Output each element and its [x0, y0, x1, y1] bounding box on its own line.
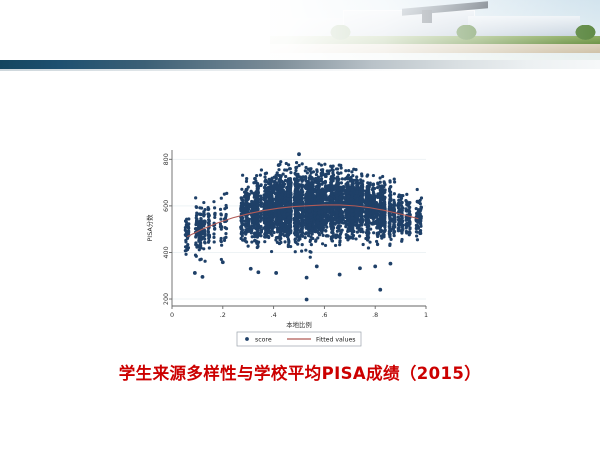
- chart-legend: scoreFitted values: [237, 332, 361, 346]
- x-tick-label: 0: [170, 311, 174, 319]
- y-tick-label: 800: [162, 153, 170, 165]
- legend-label-score: score: [255, 336, 272, 343]
- x-tick-label: .6: [321, 311, 327, 319]
- y-tick-label: 400: [162, 246, 170, 258]
- y-tick-label: 600: [162, 200, 170, 212]
- banner-fade-overlay: [0, 0, 600, 60]
- x-tick-label: 1: [424, 311, 428, 319]
- slide: 0.2.4.6.81 200400600800 本地比例 PISA分数 scor…: [0, 0, 600, 450]
- legend-label-fitted-values: Fitted values: [316, 336, 356, 343]
- scatter-chart: 0.2.4.6.81 200400600800 本地比例 PISA分数 scor…: [130, 138, 450, 353]
- slide-caption: 学生来源多样性与学校平均PISA成绩（2015）: [0, 360, 600, 384]
- x-tick-label: .8: [372, 311, 378, 319]
- y-tick-label: 200: [162, 293, 170, 305]
- banner-gradient-rule: [0, 60, 600, 69]
- chart-canvas: 0.2.4.6.81 200400600800 本地比例 PISA分数 scor…: [130, 138, 450, 353]
- banner-rule-edge: [0, 69, 600, 71]
- x-tick-label: .4: [271, 311, 277, 319]
- y-axis-label: PISA分数: [145, 214, 154, 242]
- slide-banner: [0, 0, 600, 60]
- x-tick-label: .2: [220, 311, 226, 319]
- x-axis-label: 本地比例: [286, 320, 312, 329]
